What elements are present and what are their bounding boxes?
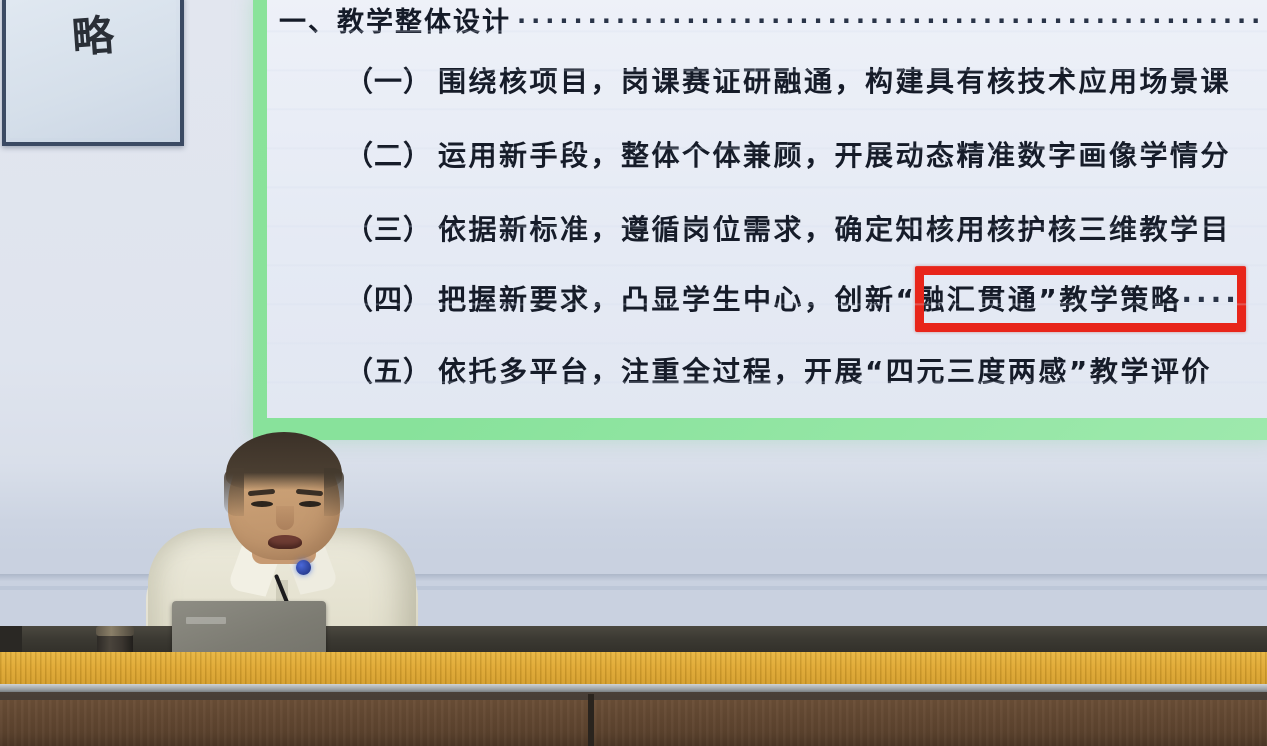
projection-screen: 一、教学整体设计 ·······························…	[267, 0, 1267, 418]
podium-panel-right	[594, 700, 1267, 746]
slide-item-4-number: （四）	[345, 283, 432, 316]
dotted-leader: ········································…	[517, 7, 1267, 35]
slide-item-2-number: （二）	[345, 139, 432, 172]
framed-wall-panel-inner: 略	[10, 0, 176, 138]
panel-character: 略	[71, 15, 116, 60]
podium-panel-left	[0, 700, 590, 746]
slide-item-3-text: 依据新标准，遵循岗位需求，确定知核用核护核三维教学目	[438, 213, 1231, 246]
slide-item-2-text: 运用新手段，整体个体兼顾，开展动态精准数字画像学情分	[438, 139, 1231, 172]
microphone-indicator-icon	[296, 560, 311, 575]
slide-item-3: （三）依据新标准，遵循岗位需求，确定知核用核护核三维教学目	[345, 208, 1231, 248]
podium-accent-band	[0, 652, 1267, 686]
slide-title-row: 一、教学整体设计 ·······························…	[279, 0, 1267, 39]
presenter-hair-left	[224, 468, 244, 516]
presenter-mouth	[268, 535, 302, 549]
presenter-eye-left	[251, 501, 273, 507]
slide-item-5-text: 依托多平台，注重全过程，开展“四元三度两感”教学评价	[438, 355, 1212, 388]
red-highlight-box	[915, 266, 1246, 332]
slide-content: 一、教学整体设计 ·······························…	[267, 0, 1267, 418]
framed-wall-panel: 略	[2, 0, 184, 146]
slide-item-2: （二）运用新手段，整体个体兼顾，开展动态精准数字画像学情分	[345, 134, 1231, 174]
slide-title: 一、教学整体设计	[279, 0, 511, 39]
podium-panel-seam	[588, 694, 594, 746]
laptop-brand-mark	[186, 617, 226, 624]
slide-item-1: （一）围绕核项目，岗课赛证研融通，构建具有核技术应用场景课	[345, 60, 1231, 100]
screenshot-scene: 略 一、教学整体设计 ·····························…	[0, 0, 1267, 746]
slide-item-1-number: （一）	[345, 65, 432, 98]
thermos-cup-lid	[96, 626, 134, 636]
slide-item-1-text: 围绕核项目，岗课赛证研融通，构建具有核技术应用场景课	[438, 65, 1231, 98]
slide-item-5-number: （五）	[345, 355, 432, 388]
slide-item-5: （五）依托多平台，注重全过程，开展“四元三度两感”教学评价	[345, 350, 1212, 390]
projection-screen-border: 一、教学整体设计 ·······························…	[253, 0, 1267, 440]
slide-item-3-number: （三）	[345, 213, 432, 246]
presenter-nose	[276, 506, 294, 530]
presenter-eye-right	[299, 501, 321, 507]
presenter-hair-right	[324, 468, 344, 516]
